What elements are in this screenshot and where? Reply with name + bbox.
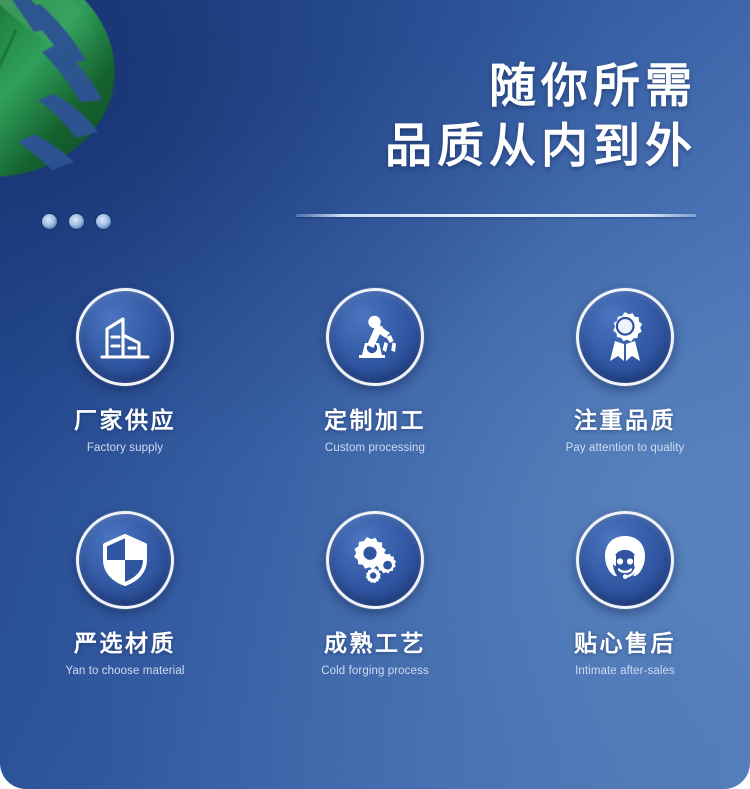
- feature-title: 严选材质: [74, 632, 176, 655]
- feature-subtitle: Custom processing: [325, 443, 425, 455]
- feature-title: 成熟工艺: [324, 632, 426, 655]
- feature-item[interactable]: 注重品质 Pay attention to quality: [500, 288, 750, 455]
- feature-subtitle: Factory supply: [87, 443, 163, 455]
- feature-title: 贴心售后: [574, 632, 676, 655]
- dot-1: [42, 214, 57, 229]
- robot-arm-icon: [326, 288, 424, 386]
- feature-item[interactable]: 成熟工艺 Cold forging process: [250, 511, 500, 678]
- headline-line-2: 品质从内到外: [385, 116, 697, 176]
- headline-divider: [296, 214, 696, 217]
- decorative-dots: [42, 214, 111, 229]
- dot-2: [69, 214, 84, 229]
- monstera-leaf-icon: [0, 0, 164, 205]
- feature-title: 定制加工: [324, 409, 426, 432]
- headline: 随你所需 品质从内到外: [385, 56, 697, 175]
- feature-subtitle: Pay attention to quality: [566, 443, 685, 455]
- factory-building-icon: [76, 288, 174, 386]
- shield-icon: [76, 511, 174, 609]
- feature-item[interactable]: 厂家供应 Factory supply: [0, 288, 250, 455]
- award-ribbon-icon: [576, 288, 674, 386]
- feature-item[interactable]: 贴心售后 Intimate after-sales: [500, 511, 750, 678]
- feature-subtitle: Intimate after-sales: [575, 666, 675, 678]
- promo-banner: 随你所需 品质从内到外 厂家供应 Factory sup: [0, 0, 750, 789]
- feature-subtitle: Cold forging process: [321, 666, 428, 678]
- feature-item[interactable]: 定制加工 Custom processing: [250, 288, 500, 455]
- headset-agent-icon: [576, 511, 674, 609]
- feature-grid: 厂家供应 Factory supply: [0, 288, 750, 677]
- gears-icon: [326, 511, 424, 609]
- feature-title: 厂家供应: [74, 409, 176, 432]
- headline-line-1: 随你所需: [385, 56, 697, 116]
- feature-subtitle: Yan to choose material: [66, 666, 185, 678]
- feature-title: 注重品质: [574, 409, 676, 432]
- dot-3: [96, 214, 111, 229]
- feature-item[interactable]: 严选材质 Yan to choose material: [0, 511, 250, 678]
